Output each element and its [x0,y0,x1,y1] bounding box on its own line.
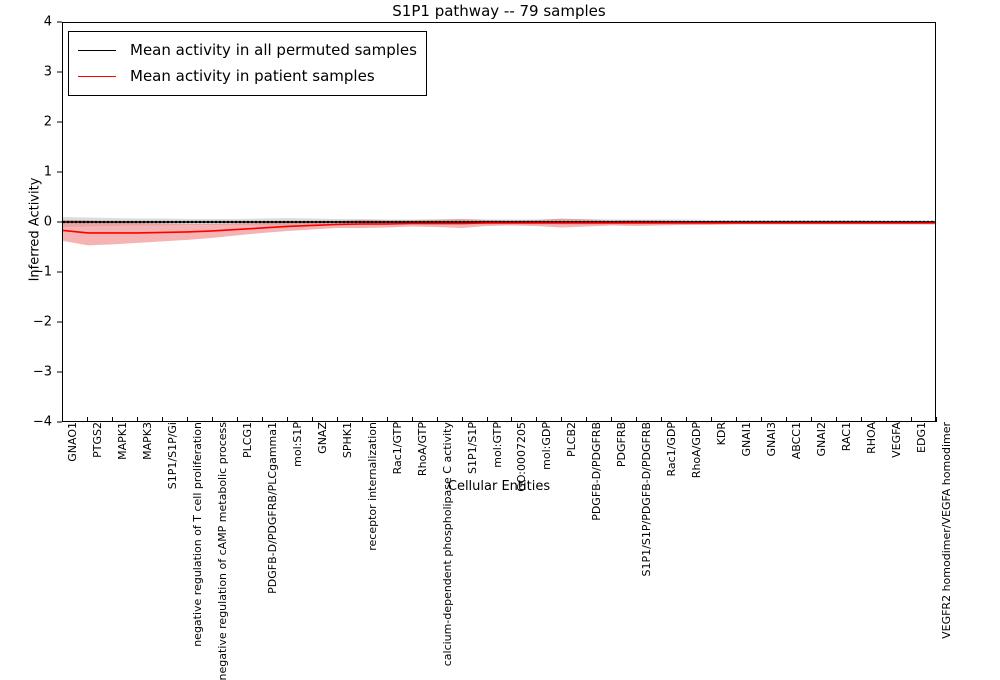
x-axis-tick-mark [911,417,912,422]
x-axis-tick-label: GNAI3 [765,422,778,457]
x-axis-tick-mark [636,417,637,422]
x-axis-tick-label: VEGFA [890,422,903,458]
y-axis-tick-label: −1 [33,265,52,280]
y-axis-tick-label: −4 [33,415,52,430]
x-axis-tick-mark [287,417,288,422]
legend-label: Mean activity in all permuted samples [130,41,417,59]
y-axis-tick-label: 2 [44,115,52,130]
x-axis-tick-label: PLCB2 [565,422,578,457]
x-axis-tick-mark [836,417,837,422]
legend-line-swatch-patient [78,76,116,77]
page-title: S1P1 pathway -- 79 samples [62,2,936,20]
x-axis-tick-label: mol:GDP [540,422,553,470]
x-axis-tick-mark [412,417,413,422]
x-axis-tick-label: RhoA/GTP [416,422,429,476]
x-axis-tick-mark [736,417,737,422]
x-axis-tick-mark [187,417,188,422]
x-axis-tick-label: mol:S1P [291,422,304,467]
x-axis-tick-label: Rac1/GDP [665,422,678,477]
x-axis-tick-label: negative regulation of cAMP metabolic pr… [216,422,229,680]
legend-item[interactable]: Mean activity in patient samples [78,63,417,89]
x-axis-tick-mark [437,417,438,422]
legend-label: Mean activity in patient samples [130,67,375,85]
x-axis-tick-mark [561,417,562,422]
x-axis-tick-label: PLCG1 [241,422,254,458]
x-axis-tick-label: PTGS2 [91,422,104,458]
x-axis-tick-mark [786,417,787,422]
x-axis-tick-mark [137,417,138,422]
x-axis-tick-label: GNAO1 [66,422,79,462]
x-axis-tick-label: KDR [715,422,728,445]
x-axis-tick-mark [262,417,263,422]
x-axis-tick-label: GNAI1 [740,422,753,457]
x-axis-tick-mark [237,417,238,422]
legend-line-swatch-permuted [78,50,116,51]
x-axis-tick-label: calcium-dependent phospholipase C activi… [441,422,454,666]
x-axis-tick-mark [711,417,712,422]
legend-item[interactable]: Mean activity in all permuted samples [78,37,417,63]
x-axis-tick-mark [861,417,862,422]
x-axis-tick-mark [487,417,488,422]
x-axis-tick-label: RAC1 [840,422,853,451]
x-axis-tick-label: S1P1/S1P [466,422,479,474]
x-axis-tick-label: ABCC1 [790,422,803,459]
x-axis-tick-label: PDGFB-D/PDGFRB [590,422,603,521]
x-axis-tick-label: mol:GTP [491,422,504,468]
x-axis-tick-label: MAPK3 [141,422,154,460]
x-axis-tick-mark [661,417,662,422]
x-axis-tick-label: RHOA [865,422,878,454]
x-axis-tick-mark [686,417,687,422]
x-axis-tick-mark [886,417,887,422]
x-axis-tick-mark [362,417,363,422]
x-axis-tick-mark [761,417,762,422]
x-axis-tick-label: negative regulation of T cell proliferat… [191,422,204,647]
x-axis-tick-label: MAPK1 [116,422,129,460]
chart-figure: S1P1 pathway -- 79 samples Inferred Acti… [0,0,1000,500]
x-axis-tick-mark [536,417,537,422]
x-axis-tick-label: S1P1/S1P/PDGFB-D/PDGFRB [640,422,653,576]
y-axis-ticks: −4−3−2−101234 [0,22,62,422]
x-axis-tick-mark [312,417,313,422]
y-axis-tick-label: 0 [44,215,52,230]
x-axis-tick-label: SPHK1 [341,422,354,458]
x-axis-tick-label: PDGFB-D/PDGFRB/PLCgamma1 [266,422,279,594]
x-axis-tick-mark [511,417,512,422]
x-axis-tick-label: VEGFR2 homodimer/VEGFA homodimer [940,422,953,639]
x-axis-tick-mark [586,417,587,422]
x-axis-tick-mark [611,417,612,422]
x-axis-tick-mark [387,417,388,422]
y-axis-tick-label: 4 [44,15,52,30]
x-axis-tick-mark [337,417,338,422]
x-axis-tick-mark [87,417,88,422]
y-axis-tick-label: −3 [33,365,52,380]
x-axis-tick-mark [212,417,213,422]
chart-legend: Mean activity in all permuted samples Me… [68,31,427,96]
x-axis-tick-label: RhoA/GDP [690,422,703,478]
x-axis-tick-label: GNAZ [316,422,329,454]
x-axis-tick-mark [112,417,113,422]
y-axis-tick-label: 1 [44,165,52,180]
x-axis-tick-mark [162,417,163,422]
x-axis-tick-label: EDG1 [915,422,928,453]
x-axis-tick-mark [936,417,937,422]
x-axis-tick-mark [62,417,63,422]
x-axis-tick-label: GNAI2 [815,422,828,457]
x-axis-title: Cellular Entities [62,479,936,494]
x-axis-tick-label: Rac1/GTP [391,422,404,474]
y-axis-tick-label: −2 [33,315,52,330]
x-axis-tick-label: PDGFRB [615,422,628,467]
x-axis-tick-mark [462,417,463,422]
y-axis-tick-label: 3 [44,65,52,80]
x-axis-tick-mark [811,417,812,422]
